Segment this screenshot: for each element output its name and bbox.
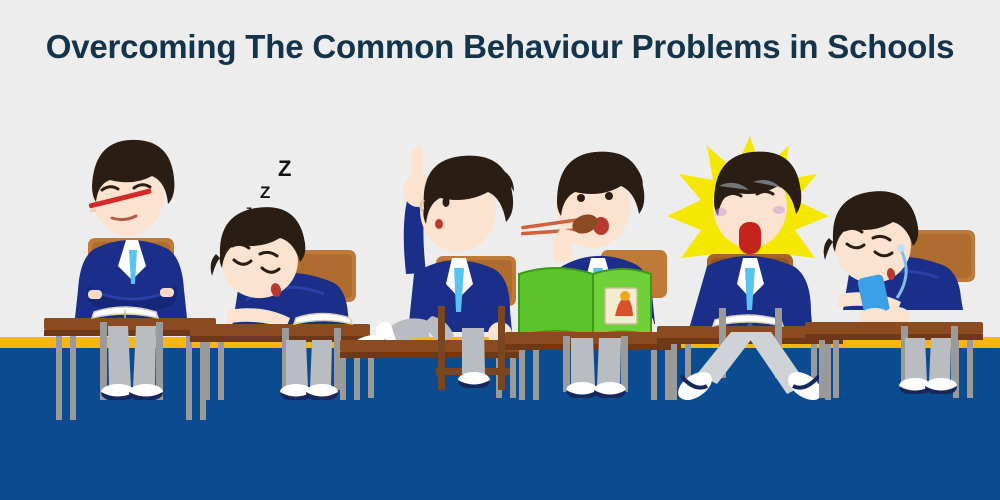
svg-text:Z: Z bbox=[260, 183, 270, 202]
svg-text:Z: Z bbox=[278, 156, 291, 181]
green-book-icon bbox=[519, 268, 651, 336]
banner-root: Overcoming The Common Behaviour Problems… bbox=[0, 0, 1000, 500]
student-6-phone bbox=[805, 178, 985, 398]
page-title: Overcoming The Common Behaviour Problems… bbox=[0, 28, 1000, 66]
